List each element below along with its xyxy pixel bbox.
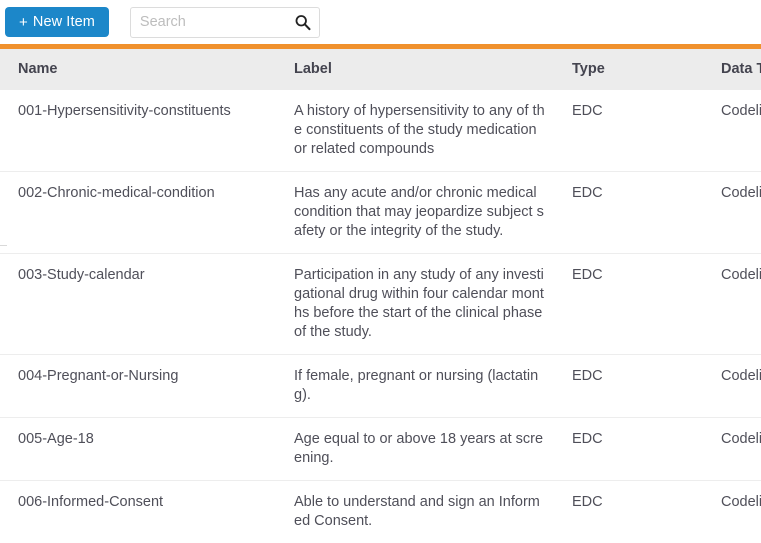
items-table: Name Label Type Data Type 001-Hypersensi… xyxy=(0,49,761,543)
cell-data-type: Codelist xyxy=(703,481,761,543)
cell-data-type: Codelist xyxy=(703,355,761,418)
cell-data-type: Codelist xyxy=(703,254,761,355)
items-table-container: Name Label Type Data Type 001-Hypersensi… xyxy=(0,49,757,543)
cell-type: EDC xyxy=(554,254,703,355)
table-header-row: Name Label Type Data Type xyxy=(0,49,761,90)
new-item-button-label: New Item xyxy=(33,14,95,30)
new-item-button[interactable]: + New Item xyxy=(5,7,109,37)
table-header: Name Label Type Data Type xyxy=(0,49,761,90)
plus-icon: + xyxy=(19,15,28,30)
cell-label: Has any acute and/or chronic medical con… xyxy=(276,172,554,254)
table-row[interactable]: 002-Chronic-medical-condition Has any ac… xyxy=(0,172,761,254)
cell-data-type: Codelist xyxy=(703,90,761,172)
left-edge-tick xyxy=(0,245,7,246)
cell-type: EDC xyxy=(554,355,703,418)
table-row[interactable]: 005-Age-18 Age equal to or above 18 year… xyxy=(0,418,761,481)
table-row[interactable]: 006-Informed-Consent Able to understand … xyxy=(0,481,761,543)
cell-type: EDC xyxy=(554,481,703,543)
page-root: + New Item Name Label Type Data Type xyxy=(0,0,761,543)
cell-name: 005-Age-18 xyxy=(0,418,276,481)
cell-name: 003-Study-calendar xyxy=(0,254,276,355)
column-header-data-type[interactable]: Data Type xyxy=(703,49,761,90)
cell-type: EDC xyxy=(554,418,703,481)
cell-data-type: Codelist xyxy=(703,172,761,254)
table-row[interactable]: 003-Study-calendar Participation in any … xyxy=(0,254,761,355)
search-field-wrapper xyxy=(130,7,320,38)
column-header-type[interactable]: Type xyxy=(554,49,703,90)
column-header-label[interactable]: Label xyxy=(276,49,554,90)
cell-name: 004-Pregnant-or-Nursing xyxy=(0,355,276,418)
table-body: 001-Hypersensitivity-constituents A hist… xyxy=(0,90,761,543)
cell-data-type: Codelist xyxy=(703,418,761,481)
cell-name: 001-Hypersensitivity-constituents xyxy=(0,90,276,172)
cell-label: Able to understand and sign an Informed … xyxy=(276,481,554,543)
toolbar: + New Item xyxy=(0,0,761,44)
cell-label: A history of hypersensitivity to any of … xyxy=(276,90,554,172)
search-input[interactable] xyxy=(130,7,320,38)
column-header-name[interactable]: Name xyxy=(0,49,276,90)
cell-label: Participation in any study of any invest… xyxy=(276,254,554,355)
table-row[interactable]: 001-Hypersensitivity-constituents A hist… xyxy=(0,90,761,172)
cell-name: 002-Chronic-medical-condition xyxy=(0,172,276,254)
table-row[interactable]: 004-Pregnant-or-Nursing If female, pregn… xyxy=(0,355,761,418)
cell-name: 006-Informed-Consent xyxy=(0,481,276,543)
cell-label: If female, pregnant or nursing (lactatin… xyxy=(276,355,554,418)
cell-label: Age equal to or above 18 years at screen… xyxy=(276,418,554,481)
cell-type: EDC xyxy=(554,90,703,172)
cell-type: EDC xyxy=(554,172,703,254)
